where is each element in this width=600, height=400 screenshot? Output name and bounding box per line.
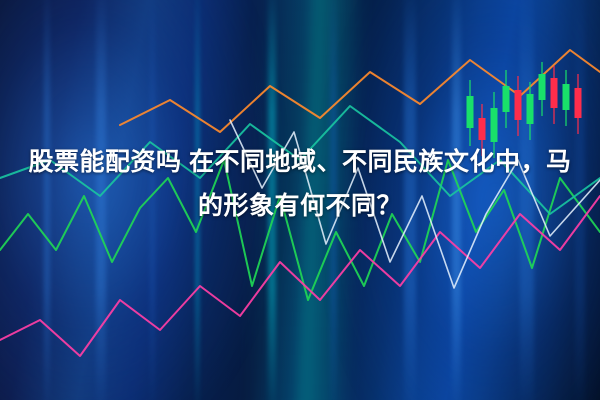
candle-body bbox=[551, 78, 558, 108]
candle-body bbox=[515, 90, 522, 120]
candle-body bbox=[467, 96, 474, 128]
image-canvas: 股票能配资吗 在不同地域、不同民族文化中，马 的形象有何不同？ bbox=[0, 0, 600, 400]
headline-text: 股票能配资吗 在不同地域、不同民族文化中，马 的形象有何不同？ bbox=[0, 140, 600, 228]
candle-body bbox=[563, 84, 570, 110]
candle-body bbox=[539, 74, 546, 100]
headline-line-2: 的形象有何不同？ bbox=[0, 184, 600, 228]
candle-body bbox=[479, 118, 486, 140]
candle-body bbox=[503, 86, 510, 112]
candle-body bbox=[491, 108, 498, 142]
headline-line-1: 股票能配资吗 在不同地域、不同民族文化中，马 bbox=[0, 140, 600, 184]
candle-body bbox=[527, 94, 534, 124]
candle-body bbox=[575, 88, 582, 118]
